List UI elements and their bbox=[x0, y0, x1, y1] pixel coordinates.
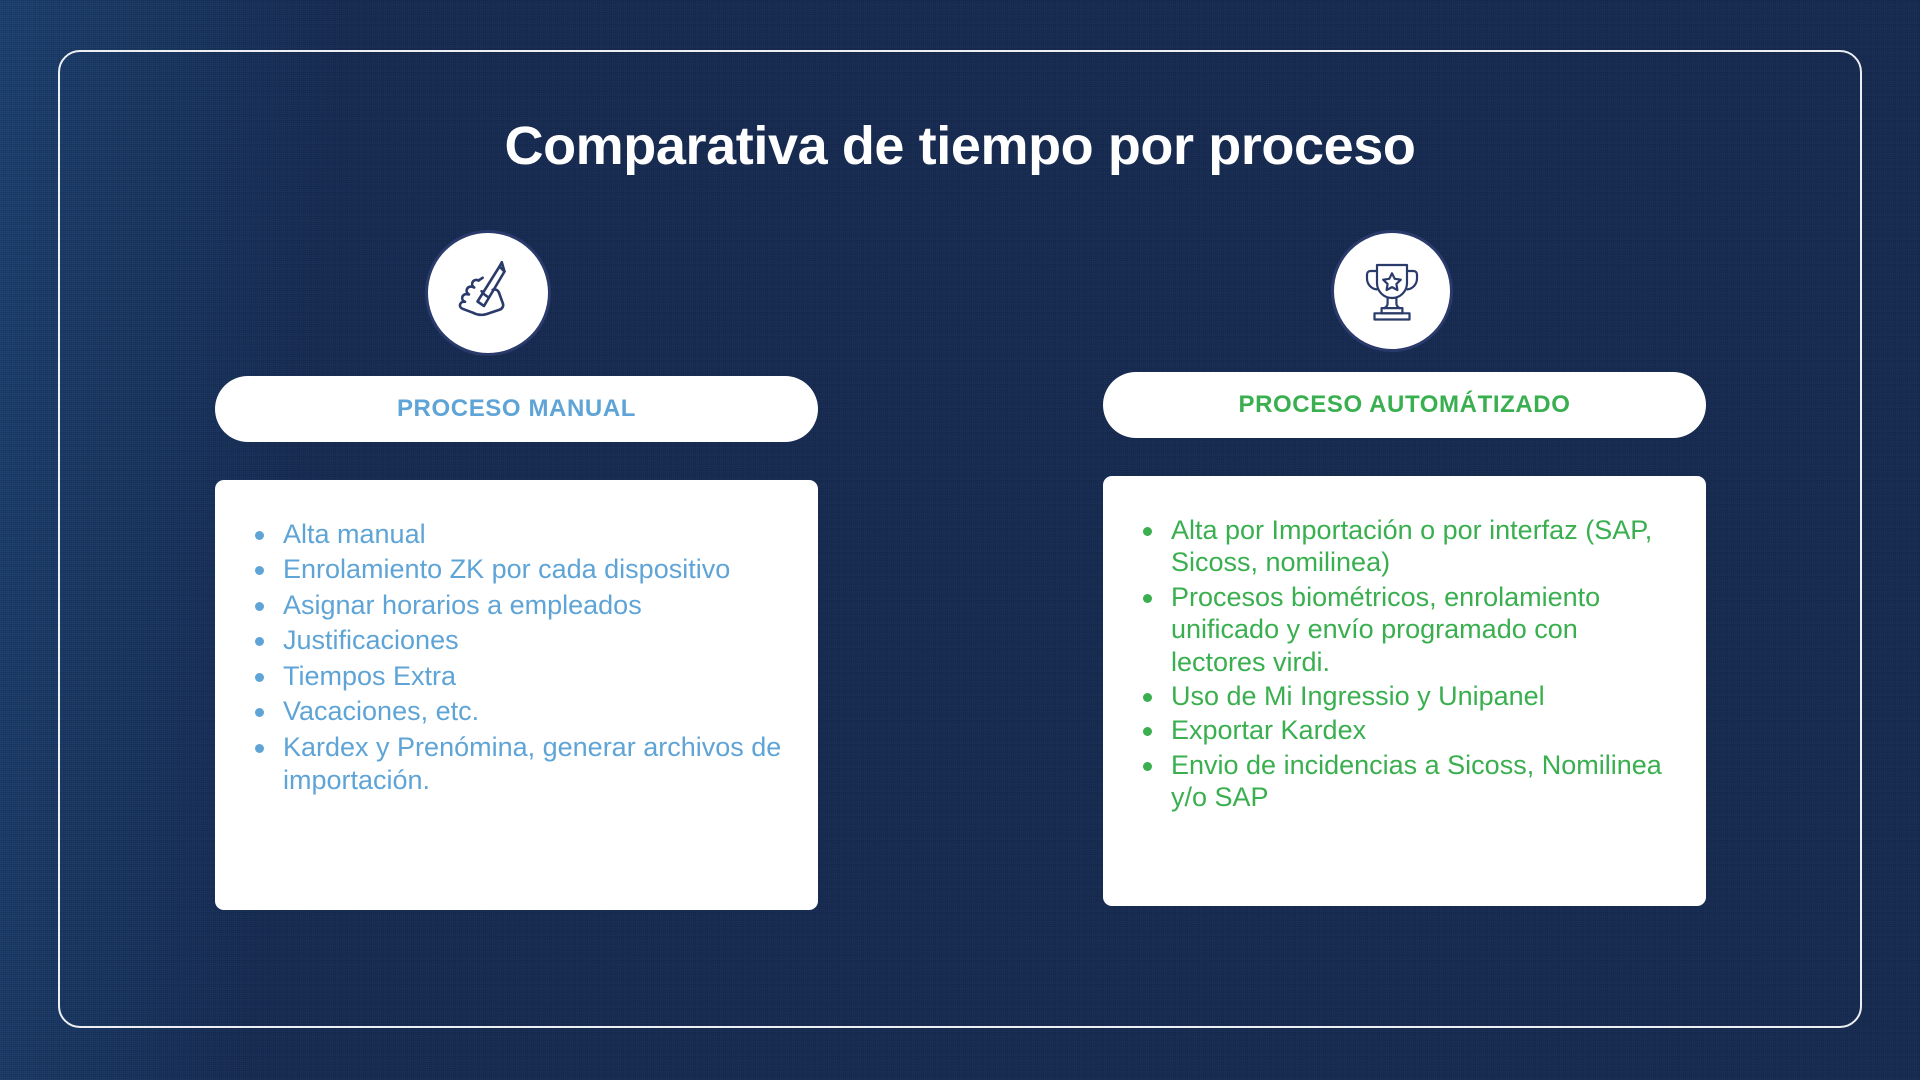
list-item: Alta manual bbox=[279, 518, 788, 551]
list-item: Kardex y Prenómina, generar archivos de … bbox=[279, 731, 788, 798]
list-item: Procesos biométricos, enrolamiento unifi… bbox=[1167, 581, 1676, 678]
list-item: Vacaciones, etc. bbox=[279, 695, 788, 728]
column-manual: PROCESO MANUAL Alta manual Enrolamiento … bbox=[215, 230, 818, 910]
automatizado-list-card: Alta por Importación o por interfaz (SAP… bbox=[1103, 476, 1706, 906]
list-item: Asignar horarios a empleados bbox=[279, 589, 788, 622]
trophy-icon bbox=[1357, 256, 1427, 326]
automatizado-header-pill[interactable]: PROCESO AUTOMÁTIZADO bbox=[1103, 372, 1706, 438]
manual-icon-badge bbox=[425, 230, 551, 356]
list-item: Tiempos Extra bbox=[279, 660, 788, 693]
automatizado-icon-badge bbox=[1331, 230, 1453, 352]
list-item: Uso de Mi Ingressio y Unipanel bbox=[1167, 680, 1676, 712]
list-item: Alta por Importación o por interfaz (SAP… bbox=[1167, 514, 1676, 579]
list-item: Enrolamiento ZK por cada dispositivo bbox=[279, 553, 788, 586]
slide-root: Comparativa de tiempo por proceso bbox=[0, 0, 1920, 1080]
list-item: Exportar Kardex bbox=[1167, 714, 1676, 746]
page-title: Comparativa de tiempo por proceso bbox=[0, 115, 1920, 177]
list-item: Envio de incidencias a Sicoss, Nomilinea… bbox=[1167, 749, 1676, 814]
list-item: Justificaciones bbox=[279, 624, 788, 657]
manual-bullet-list: Alta manual Enrolamiento ZK por cada dis… bbox=[245, 518, 788, 798]
column-automatizado: PROCESO AUTOMÁTIZADO Alta por Importació… bbox=[1103, 230, 1706, 906]
manual-header-pill[interactable]: PROCESO MANUAL bbox=[215, 376, 818, 442]
automatizado-bullet-list: Alta por Importación o por interfaz (SAP… bbox=[1133, 514, 1676, 814]
hand-with-pencil-icon bbox=[451, 256, 525, 330]
manual-list-card: Alta manual Enrolamiento ZK por cada dis… bbox=[215, 480, 818, 910]
